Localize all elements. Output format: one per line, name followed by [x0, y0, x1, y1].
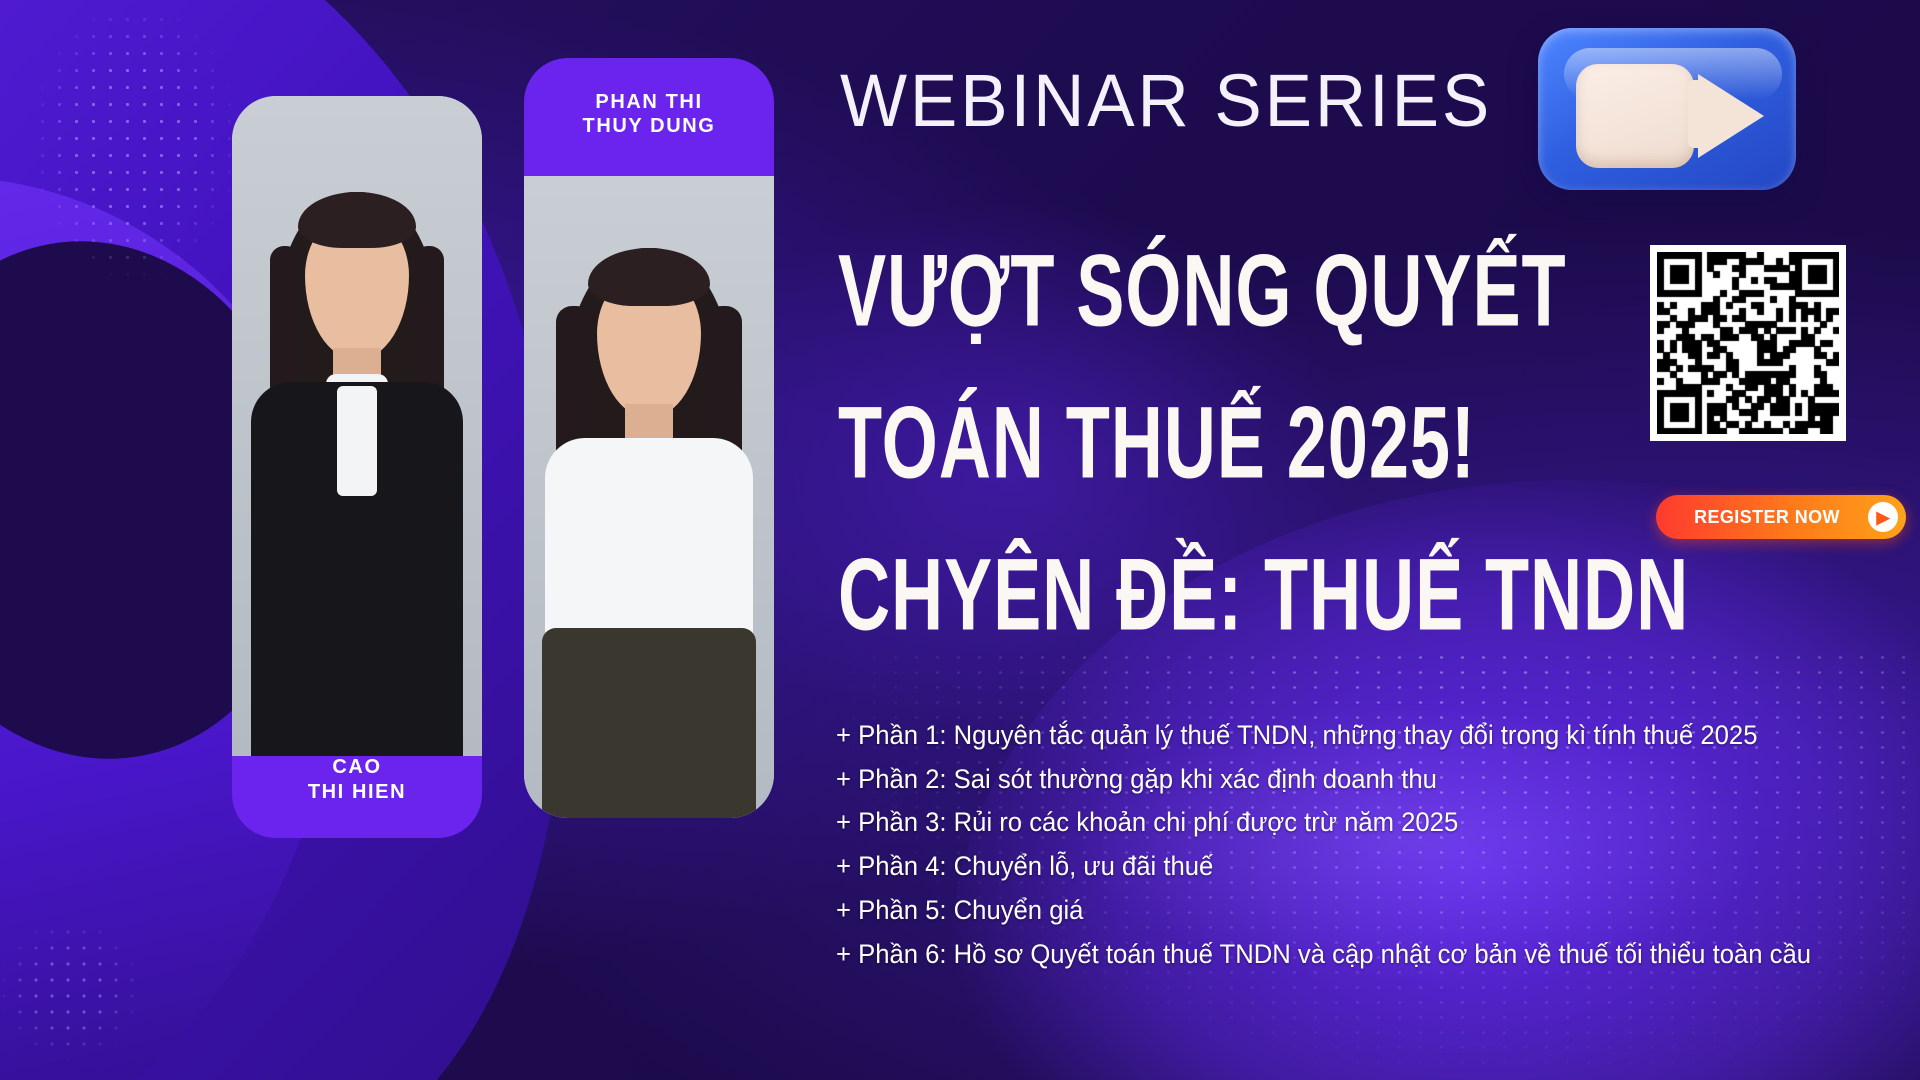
- camera-plate: [1538, 28, 1796, 190]
- portrait-illustration: [524, 176, 774, 818]
- page-title-line1: VƯỢT SÓNG QUYẾT: [838, 239, 1567, 341]
- dot-pattern-bottom-left: [0, 780, 280, 1080]
- speaker-name-line2: THI HIEN: [232, 780, 482, 804]
- page-title-line2: TOÁN THUẾ 2025!: [838, 391, 1476, 493]
- page-title-line3: CHYÊN ĐỀ: THUẾ TNDN: [838, 543, 1689, 645]
- chevron-right-icon: ▶: [1868, 502, 1898, 532]
- speaker-card-cao-thi-hien: CAO THI HIEN: [232, 96, 482, 838]
- speaker-card-phan-thi-thuy-dung: PHAN THI THUY DUNG: [524, 58, 774, 818]
- speaker-name-line2: THUY DUNG: [524, 114, 774, 138]
- speaker-name-line1: PHAN THI: [524, 90, 774, 114]
- speaker-name-cao-thi-hien: CAO THI HIEN: [232, 755, 482, 804]
- list-item: + Phần 4: Chuyển lỗ, ưu đãi thuế: [836, 845, 1824, 889]
- camera-lens: [1698, 74, 1764, 158]
- speaker-name-phan-thi-thuy-dung: PHAN THI THUY DUNG: [524, 90, 774, 139]
- list-item: + Phần 3: Rủi ro các khoản chi phí được …: [836, 801, 1824, 845]
- list-item: + Phần 2: Sai sót thường gặp khi xác địn…: [836, 758, 1824, 802]
- eyebrow-webinar-series: WEBINAR SERIES: [840, 58, 1492, 143]
- register-now-button[interactable]: REGISTER NOW ▶: [1656, 495, 1906, 539]
- speaker-photo-phan-thi-thuy-dung: [524, 176, 774, 818]
- speaker-photo-cao-thi-hien: [232, 96, 482, 756]
- list-item: + Phần 6: Hồ sơ Quyết toán thuế TNDN và …: [836, 933, 1824, 977]
- camera-body: [1576, 64, 1694, 168]
- speaker-name-line1: CAO: [232, 755, 482, 779]
- portrait-illustration: [232, 96, 482, 756]
- agenda-list: + Phần 1: Nguyên tắc quản lý thuế TNDN, …: [836, 714, 1876, 976]
- register-now-label: REGISTER NOW: [1656, 507, 1868, 528]
- list-item: + Phần 5: Chuyển giá: [836, 889, 1824, 933]
- video-camera-icon: [1530, 18, 1800, 198]
- list-item: + Phần 1: Nguyên tắc quản lý thuế TNDN, …: [836, 714, 1824, 758]
- webinar-banner: CAO THI HIEN PHAN THI THUY DUNG WEBINAR …: [0, 0, 1920, 1080]
- qr-code-icon[interactable]: [1650, 245, 1846, 441]
